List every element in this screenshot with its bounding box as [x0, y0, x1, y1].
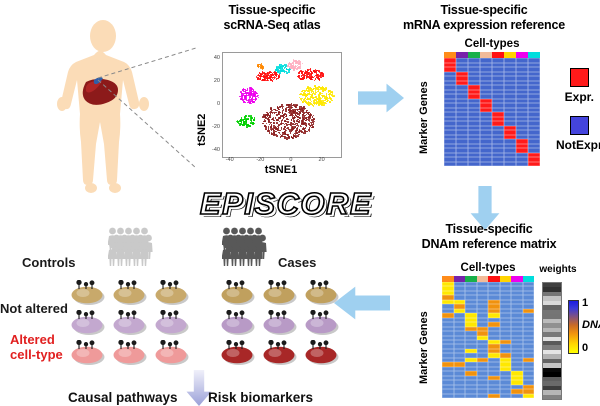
cell-icon — [220, 280, 253, 303]
tsne-ytick: -20 — [208, 124, 220, 130]
cases-crowd-icon — [222, 227, 268, 267]
tsne-xaxis-label: tSNE1 — [222, 164, 340, 176]
tsne-xtick: -20 — [256, 157, 264, 163]
cell-icon — [262, 340, 295, 363]
dnam-title-line2: DNAm reference matrix — [378, 237, 600, 252]
cell-icon — [112, 280, 145, 303]
dnam-colorbar-gradient — [568, 300, 579, 354]
person-icon — [254, 241, 263, 266]
dnam-heatmap-cell — [465, 394, 477, 398]
dnam-coltypes-header: Cell-types — [442, 262, 534, 274]
causal-pathways-label: Causal pathways — [68, 390, 178, 405]
tsne-yaxis-label: tSNE2 — [196, 62, 208, 146]
cell-icon — [112, 310, 145, 333]
dnam-heatmap-cell — [488, 394, 500, 398]
mrna-heatmap-cell — [516, 162, 528, 167]
legend-swatch-expr — [570, 68, 589, 87]
cell-icon — [304, 340, 337, 363]
dnam-colorbar-max: 1 — [582, 297, 588, 309]
dnam-heatmap-cell — [511, 394, 523, 398]
legend-label-expr: Expr. — [565, 90, 594, 104]
cell-icon — [70, 280, 103, 303]
dnam-colorbar: 1 DNAm 0 — [568, 300, 582, 354]
mrna-heatmap-grid — [444, 58, 540, 166]
mrna-heatmap-cell — [504, 162, 516, 167]
cases-label: Cases — [278, 255, 316, 270]
dnam-weights-column — [542, 282, 562, 400]
mrna-heatmap-cell — [468, 162, 480, 167]
cell-icon — [154, 310, 187, 333]
tsne-ytick: 20 — [208, 78, 220, 84]
mrna-rows-header: Marker Genes — [418, 68, 430, 154]
altered-label-line2: cell-type — [10, 347, 63, 362]
dnam-heatmap-cell — [454, 394, 466, 398]
mrna-heatmap-cell — [492, 162, 504, 167]
cell-icon — [112, 340, 145, 363]
dnam-rows-header: Marker Genes — [418, 298, 430, 384]
tsne-ytick: 40 — [208, 55, 220, 61]
cell-icon — [220, 340, 253, 363]
tsne-xtick: -40 — [226, 157, 234, 163]
dnam-weights-header: weights — [536, 264, 580, 275]
controls-label: Controls — [22, 255, 75, 270]
cell-icon — [262, 280, 295, 303]
dnam-panel-title: Tissue-specific DNAm reference matrix — [378, 222, 600, 251]
tsne-scatter-panel: tSNE1 tSNE2 -40-20020 40200-20-40 — [196, 48, 348, 180]
cell-icon — [262, 310, 295, 333]
legend-swatch-notexpr — [570, 116, 589, 135]
mrna-title-line2: mRNA expression reference — [368, 18, 600, 33]
mrna-heatmap-cell — [444, 162, 456, 167]
cell-icon — [154, 340, 187, 363]
mrna-title-line1: Tissue-specific — [368, 3, 600, 18]
episcore-logo: EPISCORE — [196, 186, 376, 222]
controls-crowd-icon — [108, 227, 154, 267]
dnam-heatmap-cell — [442, 394, 454, 398]
tsne-ytick: -40 — [208, 147, 220, 153]
mrna-heatmap-cell — [480, 162, 492, 167]
dnam-heatmap-cell — [500, 394, 512, 398]
legend-label-notexpr: NotExpr — [556, 138, 600, 152]
tsne-plot-area — [222, 52, 342, 158]
person-icon — [140, 241, 149, 266]
dnam-title-line1: Tissue-specific — [378, 222, 600, 237]
tsne-ytick: 0 — [208, 101, 220, 107]
scrna-title-line2: scRNA-Seq atlas — [186, 18, 358, 33]
cell-icon — [70, 310, 103, 333]
dnam-heatmap-cell — [477, 394, 489, 398]
cohort-panel: Controls Cases Not altered Altered cell-… — [0, 222, 340, 405]
cell-icon — [70, 340, 103, 363]
dnam-heatmap-panel: Cell-types weights Marker Genes 1 DNAm 0 — [416, 262, 600, 402]
not-altered-label: Not altered — [0, 301, 68, 316]
mrna-heatmap-cell — [456, 162, 468, 167]
cell-icon — [220, 310, 253, 333]
mrna-heatmap-cell — [528, 162, 540, 167]
dnam-heatmap-cell — [523, 394, 535, 398]
altered-label-line1: Altered — [10, 332, 63, 347]
cell-icon — [154, 280, 187, 303]
tsne-xtick: 20 — [319, 157, 325, 163]
scrna-title-line1: Tissue-specific — [186, 3, 358, 18]
weight-cell — [543, 395, 561, 399]
mrna-legend: Expr. NotExpr — [556, 68, 600, 152]
dnam-colorbar-min: 0 — [582, 342, 588, 354]
risk-biomarkers-label: Risk biomarkers — [208, 390, 313, 405]
tsne-xtick: 0 — [289, 157, 292, 163]
mrna-panel-title: Tissue-specific mRNA expression referenc… — [368, 3, 600, 32]
altered-label: Altered cell-type — [10, 332, 63, 362]
scrna-panel-title: Tissue-specific scRNA-Seq atlas — [186, 3, 358, 32]
mrna-heatmap-panel: Cell-types Marker Genes Expr. NotExpr — [416, 38, 600, 188]
cell-icon — [304, 310, 337, 333]
dnam-colorbar-label: DNAm — [582, 319, 600, 331]
mrna-coltypes-header: Cell-types — [444, 38, 540, 50]
dnam-heatmap-grid — [442, 282, 534, 398]
cell-icon — [304, 280, 337, 303]
